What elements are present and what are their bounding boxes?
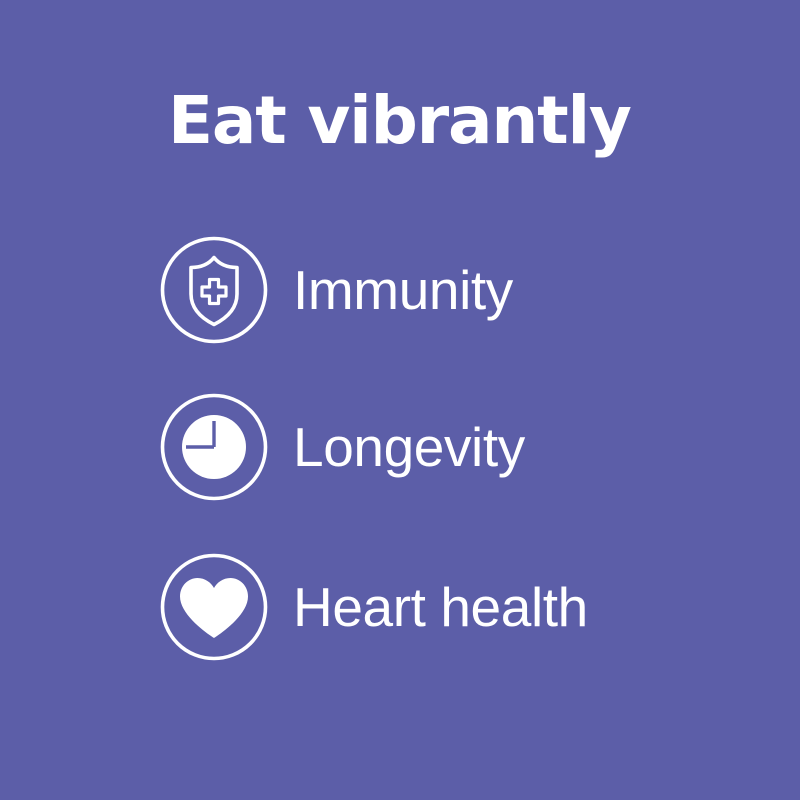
list-item: Immunity xyxy=(160,236,513,344)
benefit-list: Immunity Longevity Heart health xyxy=(0,0,800,800)
promo-poster: Eat vibrantly Immunity Longevity xyxy=(0,0,800,800)
shield-cross-icon xyxy=(160,236,268,344)
list-item: Longevity xyxy=(160,393,525,501)
list-item-label: Heart health xyxy=(293,580,588,635)
list-item: Heart health xyxy=(160,553,588,661)
heart-icon xyxy=(160,553,268,661)
list-item-label: Longevity xyxy=(293,420,525,475)
list-item-label: Immunity xyxy=(293,263,513,318)
clock-icon xyxy=(160,393,268,501)
